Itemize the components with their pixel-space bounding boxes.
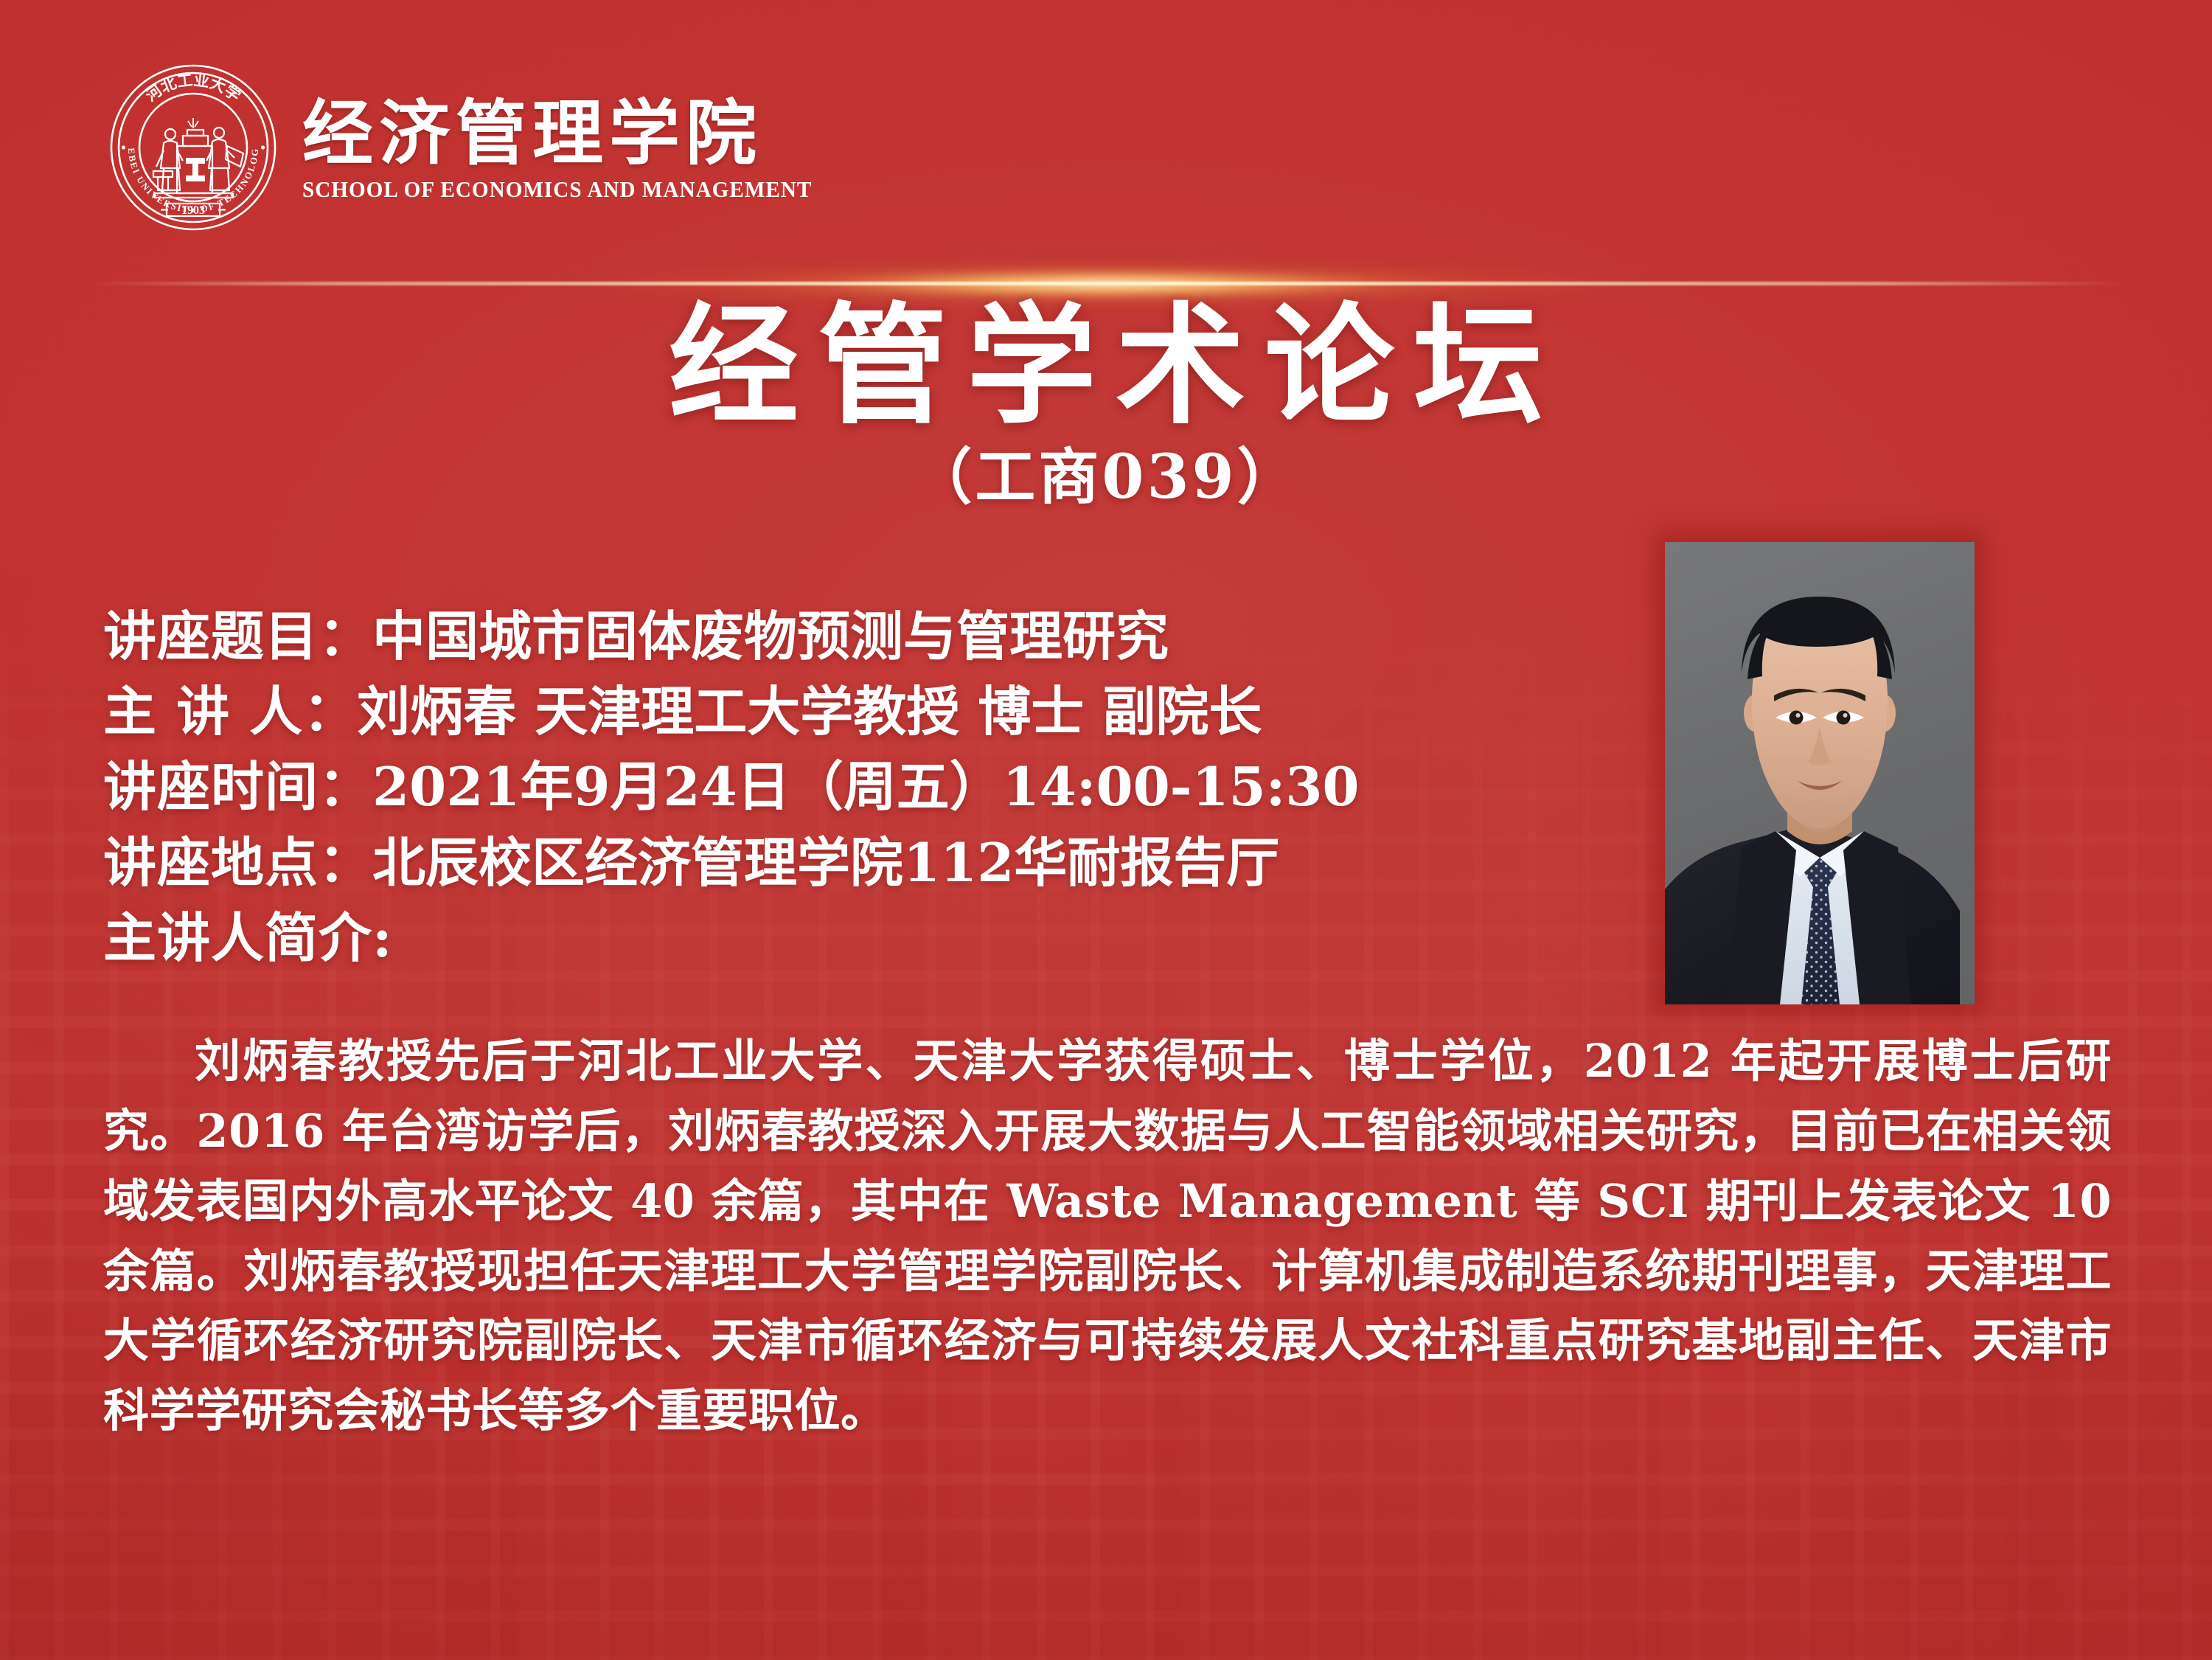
biography-paragraph: 刘炳春教授先后于河北工业大学、天津大学获得硕士、博士学位，2012 年起开展博士… [103, 1027, 2112, 1446]
speaker-portrait-photo [1665, 542, 1975, 1004]
university-seal-icon: HEBEI UNIVERSITY OF TECHNOLOGY 河北工业大学 [109, 63, 277, 232]
info-label-location: 讲座地点： [103, 831, 372, 894]
lecture-poster: HEBEI UNIVERSITY OF TECHNOLOGY 河北工业大学 [0, 0, 2212, 1660]
info-row-location: 讲座地点：北辰校区经济管理学院112华耐报告厅 [103, 825, 1622, 900]
school-name-cn: 经济管理学院 [302, 97, 845, 171]
info-row-time: 讲座时间：2021年9月24日（周五）14:00-15:30 [103, 749, 1622, 824]
school-name-en: SCHOOL OF ECONOMICS AND MANAGEMENT [302, 176, 812, 203]
info-label-speaker: 主 讲 人： [103, 680, 357, 743]
title-block: 经管学术论坛 （工商039） [0, 301, 2212, 507]
svg-text:河北工业大学: 河北工业大学 [142, 70, 245, 105]
info-value-location: 北辰校区经济管理学院112华耐报告厅 [372, 831, 1279, 894]
info-label-time: 讲座时间： [103, 755, 372, 818]
info-label-topic: 讲座题目： [103, 605, 372, 667]
poster-header: HEBEI UNIVERSITY OF TECHNOLOGY 河北工业大学 [109, 63, 845, 232]
info-label-bio: 主讲人简介: [103, 906, 393, 969]
lecture-info-list: 讲座题目：中国城市固体废物预测与管理研究 主 讲 人：刘炳春 天津理工大学教授 … [103, 599, 1622, 976]
info-row-bio-heading: 主讲人简介: [103, 900, 1622, 976]
info-value-speaker: 刘炳春 天津理工大学教授 博士 副院长 [357, 680, 1262, 743]
page-title: 经管学术论坛 [0, 301, 2212, 431]
school-name-block: 经济管理学院 SCHOOL OF ECONOMICS AND MANAGEMEN… [302, 92, 845, 204]
page-subtitle: （工商039） [0, 447, 2212, 507]
info-value-time: 2021年9月24日（周五）14:00-15:30 [372, 755, 1360, 818]
svg-text:1903: 1903 [181, 204, 205, 217]
info-row-topic: 讲座题目：中国城市固体废物预测与管理研究 [103, 599, 1622, 674]
speaker-biography: 刘炳春教授先后于河北工业大学、天津大学获得硕士、博士学位，2012 年起开展博士… [103, 1027, 2112, 1446]
info-value-topic: 中国城市固体废物预测与管理研究 [372, 605, 1169, 667]
info-row-speaker: 主 讲 人：刘炳春 天津理工大学教授 博士 副院长 [103, 674, 1622, 749]
